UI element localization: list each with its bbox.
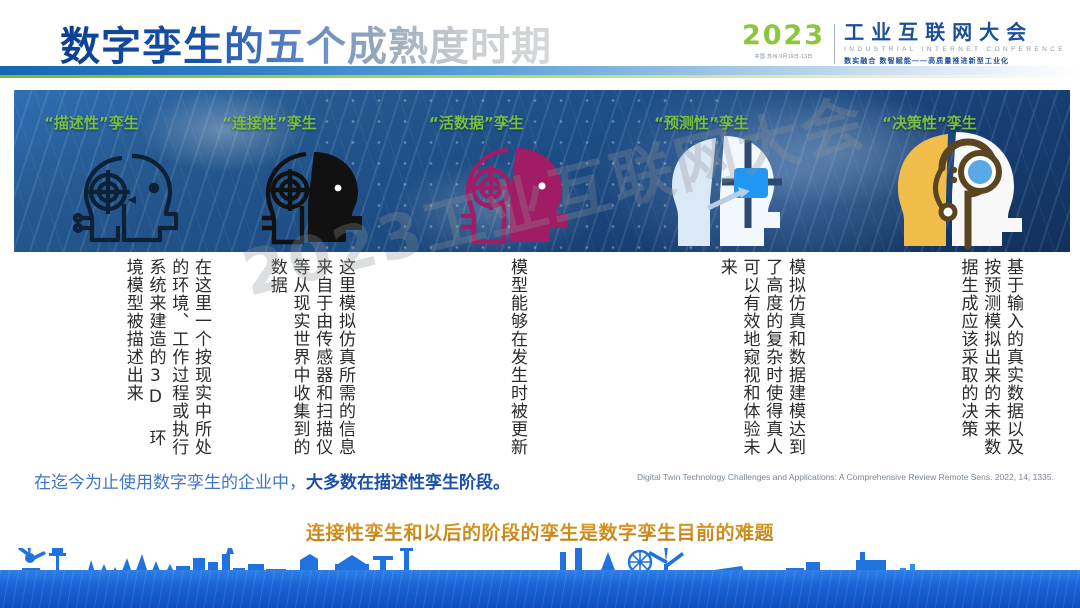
logo-divider	[834, 24, 835, 64]
header-rule-green	[0, 75, 1080, 78]
summary-note-normal: 在迄今为止使用数字孪生的企业中，	[34, 473, 306, 493]
description-column-1: 在这里一个按现实中所处的环境、工作过程或执行系统来建造的3D 环境模型被描述出来	[34, 258, 212, 456]
logo-name-en: INDUSTRIAL INTERNET CONFERENCE	[844, 46, 1066, 53]
logo-slogan: 数实融合 数智赋能——高质量推进新型工业化	[844, 56, 1066, 66]
head-brain-gold-icon	[890, 128, 1040, 252]
head-target-magenta-icon	[446, 142, 592, 252]
header-rule-blue	[0, 66, 1080, 75]
logo-year: 2023	[742, 22, 825, 49]
stage-label-3: “活数据”孪生	[429, 112, 524, 133]
description-column-5: 基于输入的真实数据以及按预测模拟出来的未来数据生成应该采取的决策	[884, 258, 1024, 456]
logo-name-block: 工业互联网大会 INDUSTRIAL INTERNET CONFERENCE 数…	[844, 22, 1066, 66]
footer-sea	[0, 570, 1080, 608]
stage-banner: “描述性”孪生 “连接性”孪生 “活数据”孪生 “预测性”孪生 “决策性”孪生	[14, 90, 1070, 252]
citation-text: Digital Twin Technology Challenges and A…	[637, 472, 1054, 482]
stage-label-1: “描述性”孪生	[44, 112, 139, 133]
logo-year-block: 2023 中国·苏州 9月19日-13日	[742, 22, 834, 60]
description-column-2: 这里模拟仿真所需的信息来自于由传感器和扫描仪等从现实世界中收集到的数据	[216, 258, 356, 456]
description-column-3: 模型能够在发生时被更新	[466, 258, 528, 456]
slide-root: 数字孪生的五个成熟度时期 2023 中国·苏州 9月19日-13日 工业互联网大…	[0, 0, 1080, 608]
summary-note-bold: 大多数在描述性孪生阶段。	[306, 473, 510, 493]
head-target-black-icon	[248, 146, 388, 252]
footer-decoration	[0, 548, 1080, 608]
description-column-4: 模拟仿真和数据建模达到了高度的复杂时使得真人可以有效地窥视和体验未来	[666, 258, 806, 456]
logo-name-cn: 工业互联网大会	[844, 22, 1066, 43]
page-title: 数字孪生的五个成熟度时期	[60, 14, 552, 72]
key-takeaway-headline: 连接性孪生和以后的阶段的孪生是数字孪生目前的难题	[0, 518, 1080, 545]
head-target-lightblue-icon	[664, 130, 844, 252]
stage-label-2: “连接性”孪生	[222, 112, 317, 133]
logo-date: 中国·苏州 9月19日-13日	[754, 53, 812, 60]
conference-logo: 2023 中国·苏州 9月19日-13日 工业互联网大会 INDUSTRIAL …	[742, 22, 1066, 66]
summary-note: 在迄今为止使用数字孪生的企业中，大多数在描述性孪生阶段。	[34, 468, 510, 493]
head-target-outline-icon	[62, 148, 212, 252]
